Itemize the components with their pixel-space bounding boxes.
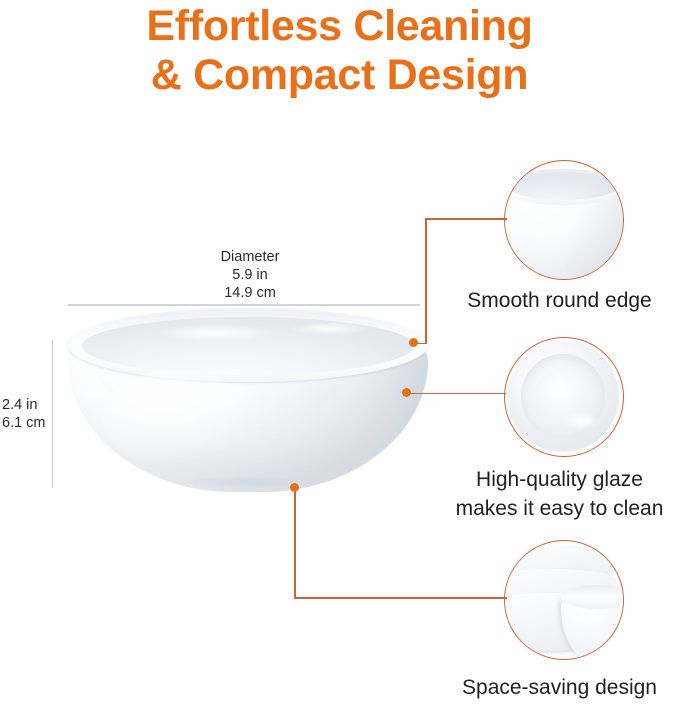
callout-3-line-1: Space-saving design [440, 673, 679, 702]
inset-circle-stacked-bowls [504, 540, 624, 660]
anchor-dot-smooth-round-edge [409, 338, 418, 347]
height-guide-line [52, 340, 53, 488]
connector-3-segment-a [294, 491, 296, 599]
inset3-stack [505, 541, 623, 659]
bowl-highlight-left [156, 324, 276, 342]
anchor-dot-space-saving-design [290, 483, 299, 492]
diameter-guide-line [68, 304, 420, 306]
connector-2-segment-a [410, 393, 506, 395]
bowl-highlight-right [290, 322, 368, 335]
connector-1-segment-b [425, 218, 427, 343]
inset2-glaze-gloss [561, 412, 601, 430]
page-title-line-1: Effortless Cleaning [0, 2, 679, 51]
connector-3-segment-b [294, 597, 507, 599]
height-inches: 2.4 in [2, 396, 50, 414]
callout-label-smooth-round-edge: Smooth round edge [440, 286, 679, 315]
diameter-caption: Diameter [168, 248, 332, 266]
height-centimeters: 6.1 cm [2, 414, 50, 432]
callout-label-space-saving-design: Space-saving design [440, 673, 679, 702]
callout-1-line-1: Smooth round edge [440, 286, 679, 315]
product-image-bowl [68, 308, 428, 493]
product-infographic: Effortless Cleaning & Compact Design Dia… [0, 0, 679, 707]
diameter-dimension-label: Diameter 5.9 in 14.9 cm [168, 248, 332, 302]
page-title-line-2: & Compact Design [0, 51, 679, 100]
height-dimension-label: 2.4 in 6.1 cm [2, 396, 50, 432]
bowl-foot-shadow [192, 476, 306, 487]
bowl-highlight-front [102, 370, 252, 466]
callout-2-line-1: High-quality glaze [440, 465, 679, 494]
callout-2-line-2: makes it easy to clean [440, 494, 679, 523]
inset-circle-bowl-interior-topdown [504, 337, 624, 457]
inset-circle-bowl-rim-closeup [504, 160, 624, 280]
diameter-inches: 5.9 in [168, 266, 332, 284]
diameter-centimeters: 14.9 cm [168, 284, 332, 302]
page-title: Effortless Cleaning & Compact Design [0, 2, 679, 100]
callout-label-high-quality-glaze: High-quality glaze makes it easy to clea… [440, 465, 679, 523]
anchor-dot-high-quality-glaze [402, 388, 411, 397]
connector-1-segment-c [425, 218, 507, 220]
